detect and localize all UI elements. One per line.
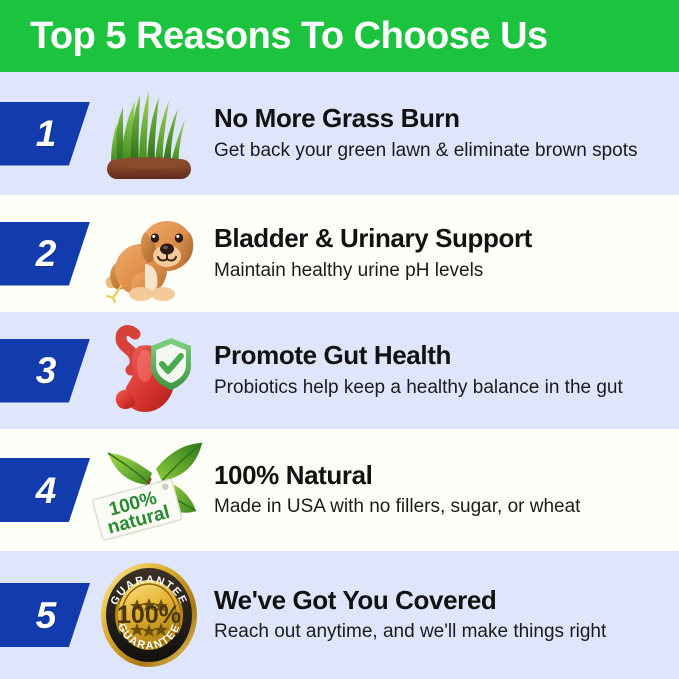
reason-description: Probiotics help keep a healthy balance i… bbox=[214, 375, 665, 400]
reason-description: Reach out anytime, and we'll make things… bbox=[214, 619, 665, 644]
number-badge: 2 bbox=[0, 222, 90, 286]
leaf-natural-tag-icon: 100% natural bbox=[90, 438, 208, 542]
badge-number: 1 bbox=[36, 115, 57, 152]
reasons-list: 1 bbox=[0, 72, 679, 679]
guarantee-seal-icon: GUARANTEE GUARANTEE bbox=[90, 563, 208, 667]
reason-title: 100% Natural bbox=[214, 461, 665, 490]
number-badge: 4 bbox=[0, 458, 90, 522]
badge-number: 5 bbox=[36, 597, 57, 634]
reason-title: No More Grass Burn bbox=[214, 104, 665, 133]
seal-center-text: 100% bbox=[117, 601, 181, 629]
badge-number: 3 bbox=[36, 352, 57, 389]
header-bar: Top 5 Reasons To Choose Us bbox=[0, 0, 679, 72]
reason-title: We've Got You Covered bbox=[214, 586, 665, 615]
reason-row: 2 bbox=[0, 195, 679, 312]
reason-text: Promote Gut Health Probiotics help keep … bbox=[208, 341, 679, 399]
reason-description: Maintain healthy urine pH levels bbox=[214, 258, 665, 283]
badge-shape: 5 bbox=[0, 583, 90, 647]
reason-row: 5 bbox=[0, 551, 679, 679]
reason-text: 100% Natural Made in USA with no fillers… bbox=[208, 461, 679, 519]
reason-text: Bladder & Urinary Support Maintain healt… bbox=[208, 224, 679, 282]
number-badge: 3 bbox=[0, 339, 90, 403]
reason-text: We've Got You Covered Reach out anytime,… bbox=[208, 586, 679, 644]
number-badge: 1 bbox=[0, 102, 90, 166]
infographic-root: Top 5 Reasons To Choose Us 1 bbox=[0, 0, 679, 679]
badge-shape: 1 bbox=[0, 102, 90, 166]
reason-row: 3 bbox=[0, 312, 679, 429]
badge-shape: 4 bbox=[0, 458, 90, 522]
badge-shape: 2 bbox=[0, 222, 90, 286]
page-title: Top 5 Reasons To Choose Us bbox=[30, 17, 548, 55]
number-badge: 5 bbox=[0, 583, 90, 647]
stomach-shield-check-icon bbox=[90, 319, 208, 423]
badge-number: 4 bbox=[36, 472, 57, 509]
reason-row: 1 bbox=[0, 72, 679, 195]
badge-number: 2 bbox=[36, 235, 57, 272]
reason-title: Bladder & Urinary Support bbox=[214, 224, 665, 253]
badge-shape: 3 bbox=[0, 339, 90, 403]
grass-planter-icon bbox=[90, 82, 208, 186]
reason-title: Promote Gut Health bbox=[214, 341, 665, 370]
reason-row: 4 bbox=[0, 429, 679, 551]
reason-description: Get back your green lawn & eliminate bro… bbox=[214, 138, 665, 163]
reason-description: Made in USA with no fillers, sugar, or w… bbox=[214, 494, 665, 519]
reason-text: No More Grass Burn Get back your green l… bbox=[208, 104, 679, 162]
puppy-dog-icon bbox=[90, 202, 208, 306]
